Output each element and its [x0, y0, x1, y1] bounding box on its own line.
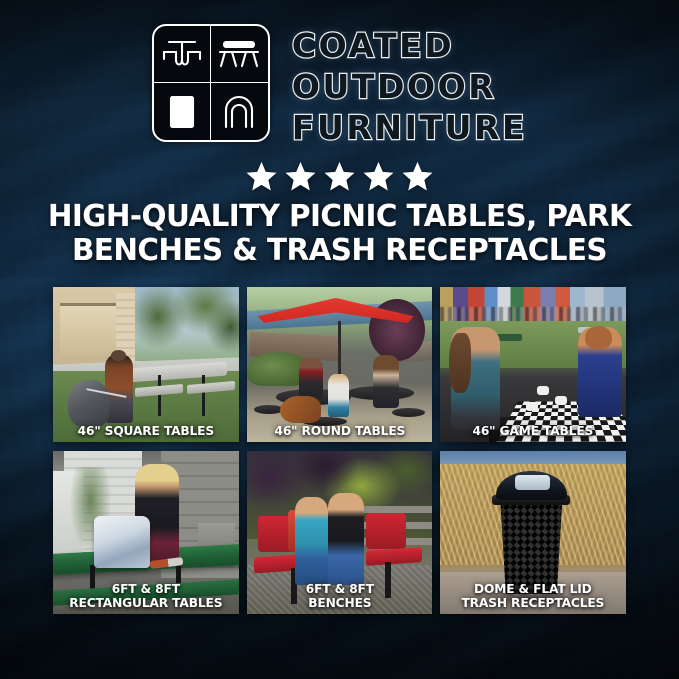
headline-line-2: BENCHES & TRASH RECEPTACLES	[41, 234, 638, 268]
tile-caption: 46" GAME TABLES	[443, 424, 623, 437]
product-photo-square-tables	[53, 287, 239, 442]
tile-caption: 46" SQUARE TABLES	[56, 424, 236, 437]
star-icon	[245, 160, 278, 193]
tile-caption-line: 46" SQUARE TABLES	[59, 424, 233, 437]
tile-caption-line: 46" ROUND TABLES	[252, 424, 426, 437]
tile-caption: 6FT & 8FT RECTANGULAR TABLES	[56, 582, 236, 609]
product-photo-game-tables	[440, 287, 626, 442]
tile-caption: 46" ROUND TABLES	[249, 424, 429, 437]
brand-line-3: FURNITURE	[292, 108, 527, 148]
tile-caption-line: TRASH RECEPTACLES	[446, 596, 620, 609]
park-bench-icon	[211, 26, 268, 83]
bike-rack-arch-icon	[211, 83, 268, 140]
banner-stage: COATED OUTDOOR FURNITURE HIGH-QUALITY PI…	[0, 0, 679, 679]
headline-line-1: HIGH-QUALITY PICNIC TABLES, PARK	[41, 200, 638, 234]
banner-content: COATED OUTDOOR FURNITURE HIGH-QUALITY PI…	[0, 0, 679, 679]
product-tile-square-tables[interactable]: 46" SQUARE TABLES	[53, 287, 239, 442]
star-icon	[284, 160, 317, 193]
star-icon	[401, 160, 434, 193]
product-tile-game-tables[interactable]: 46" GAME TABLES	[440, 287, 626, 442]
product-tile-trash-receptacles[interactable]: DOME & FLAT LID TRASH RECEPTACLES	[440, 451, 626, 614]
product-tile-round-tables[interactable]: 46" ROUND TABLES	[247, 287, 433, 442]
tile-caption: DOME & FLAT LID TRASH RECEPTACLES	[443, 582, 623, 609]
product-photo-round-tables	[247, 287, 433, 442]
tile-caption-line: 46" GAME TABLES	[446, 424, 620, 437]
headline: HIGH-QUALITY PICNIC TABLES, PARK BENCHES…	[41, 200, 638, 268]
product-tile-grid: 46" SQUARE TABLES 46" ROUND TABLE	[53, 287, 626, 614]
brand-line-1: COATED	[292, 26, 527, 66]
brand-logo: COATED OUTDOOR FURNITURE	[0, 24, 679, 148]
tile-caption-line: RECTANGULAR TABLES	[59, 596, 233, 609]
logo-mark	[152, 24, 270, 142]
picnic-table-icon	[154, 26, 211, 83]
tile-caption: 6FT & 8FT BENCHES	[249, 582, 429, 609]
tile-caption-line: BENCHES	[252, 596, 426, 609]
star-rating	[0, 160, 679, 193]
product-tile-benches[interactable]: 6FT & 8FT BENCHES	[247, 451, 433, 614]
brand-wordmark: COATED OUTDOOR FURNITURE	[292, 24, 527, 148]
star-icon	[323, 160, 356, 193]
brand-line-2: OUTDOOR	[292, 67, 527, 107]
trash-receptacle-icon	[154, 83, 211, 140]
product-tile-rectangular-tables[interactable]: 6FT & 8FT RECTANGULAR TABLES	[53, 451, 239, 614]
star-icon	[362, 160, 395, 193]
